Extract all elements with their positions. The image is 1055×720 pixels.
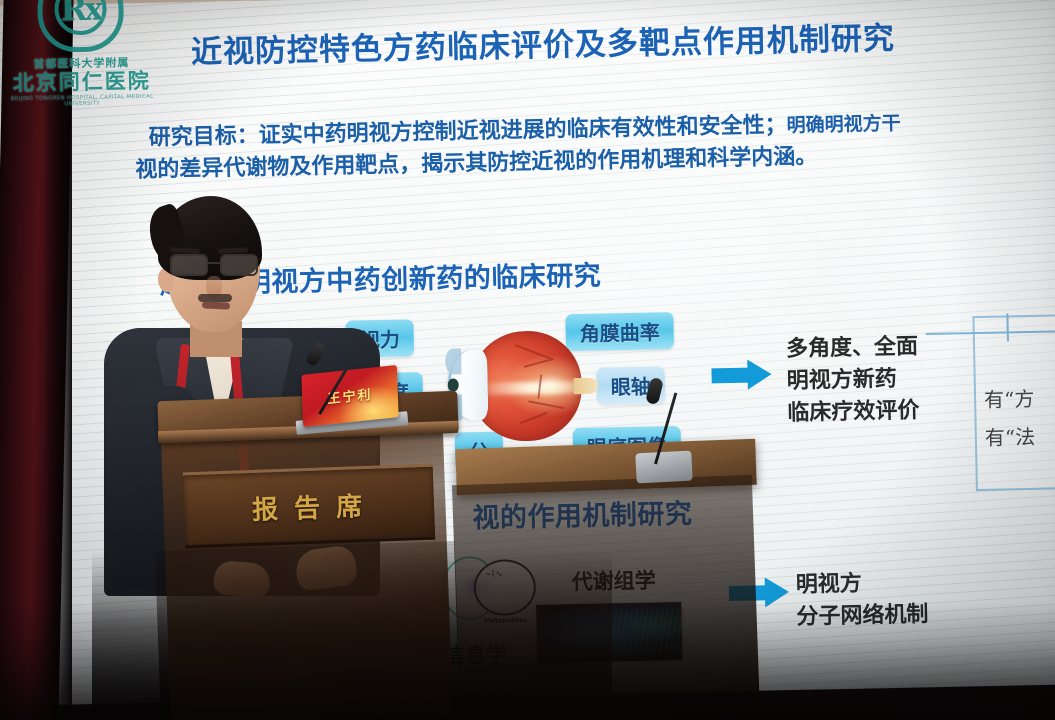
outcome-text-2: 明视方 分子网络机制 bbox=[795, 567, 928, 633]
eye-vessel bbox=[520, 412, 548, 424]
conference-photo: 近视防控特色方药临床评价及多靶点作用机制研究 研究目标：证实中药明视方控制近视进… bbox=[0, 0, 1055, 720]
optic-nerve bbox=[574, 378, 598, 394]
flow-arrow-1 bbox=[711, 359, 772, 390]
eye-vessel bbox=[528, 400, 564, 409]
hospital-logo: Rx 首都医科大学附属 北京同仁医院 BEIJING TONGREN HOSPI… bbox=[5, 0, 157, 108]
eye-lens-upper bbox=[445, 348, 462, 374]
eye-vessel bbox=[523, 358, 554, 368]
eyeglass-lens-left bbox=[170, 254, 208, 276]
outcome-2-line-1: 明视方 bbox=[795, 567, 928, 602]
hospital-name: 北京同仁医院 bbox=[7, 70, 157, 95]
side-note-line-1: 有“方 bbox=[984, 380, 1035, 419]
podium-shadow bbox=[155, 541, 461, 720]
outcome-2-line-2: 分子网络机制 bbox=[796, 599, 929, 634]
eyeglass-lens-right bbox=[220, 254, 258, 276]
eye-vessel bbox=[515, 344, 551, 359]
stage-curtain-edge bbox=[46, 0, 72, 720]
research-goal-label: 研究目标： bbox=[148, 123, 258, 150]
eyeglasses bbox=[164, 254, 268, 278]
slide-title: 近视防控特色方药临床评价及多靶点作用机制研究 bbox=[191, 17, 1022, 72]
eye-highlight bbox=[481, 381, 583, 395]
table-front bbox=[452, 475, 760, 720]
podium: 报告席 bbox=[148, 396, 466, 720]
eyeglass-bridge bbox=[208, 262, 222, 264]
outcome-text-1: 多角度、全面 明视方新药 临床疗效评价 bbox=[786, 331, 920, 429]
arrow-head bbox=[747, 359, 772, 389]
microphone-2-base bbox=[635, 451, 692, 484]
outcome-1-line-1: 多角度、全面 bbox=[786, 331, 919, 366]
research-goal-line1-tail: 明确明视方干 bbox=[786, 113, 900, 137]
rx-icon: Rx bbox=[42, 0, 119, 29]
hospital-logo-mark: Rx bbox=[37, 0, 124, 53]
research-goal-block: 研究目标：证实中药明视方控制近视进展的临床有效性和安全性；明确明视方干 视的差异… bbox=[148, 105, 1049, 187]
outcome-1-line-3: 临床疗效评价 bbox=[787, 395, 920, 430]
arrow-shaft bbox=[711, 368, 749, 384]
side-note-line-2: 有“法 bbox=[985, 418, 1036, 457]
outcome-1-line-2: 明视方新药 bbox=[786, 363, 919, 398]
side-note-text: 有“方 有“法 bbox=[984, 380, 1036, 457]
arrow-head bbox=[765, 577, 790, 607]
mouth bbox=[202, 301, 230, 309]
speaker-nameplate: 王宁利 bbox=[301, 365, 398, 427]
